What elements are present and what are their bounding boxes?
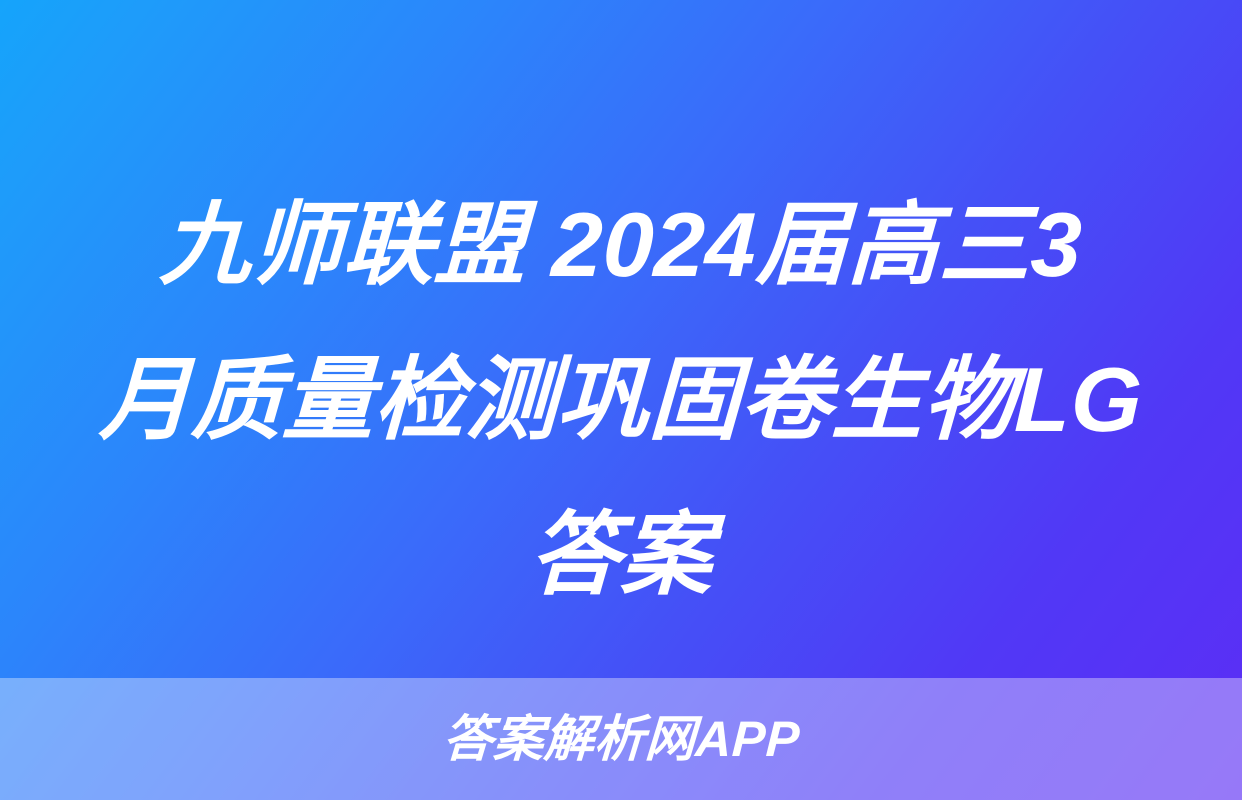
page-title: 九师联盟 2024届高三3 月质量检测巩固卷生物LG 答案 <box>0 168 1242 633</box>
title-line-1: 九师联盟 2024届高三3 <box>25 168 1216 323</box>
app-name-label: 答案解析网APP <box>441 714 800 764</box>
app-branding-bar: 答案解析网APP <box>0 678 1242 800</box>
promo-banner: 九师联盟 2024届高三3 月质量检测巩固卷生物LG 答案 答案解析网APP <box>0 0 1242 800</box>
title-line-3: 答案 <box>25 478 1216 633</box>
title-line-2: 月质量检测巩固卷生物LG <box>25 323 1216 478</box>
